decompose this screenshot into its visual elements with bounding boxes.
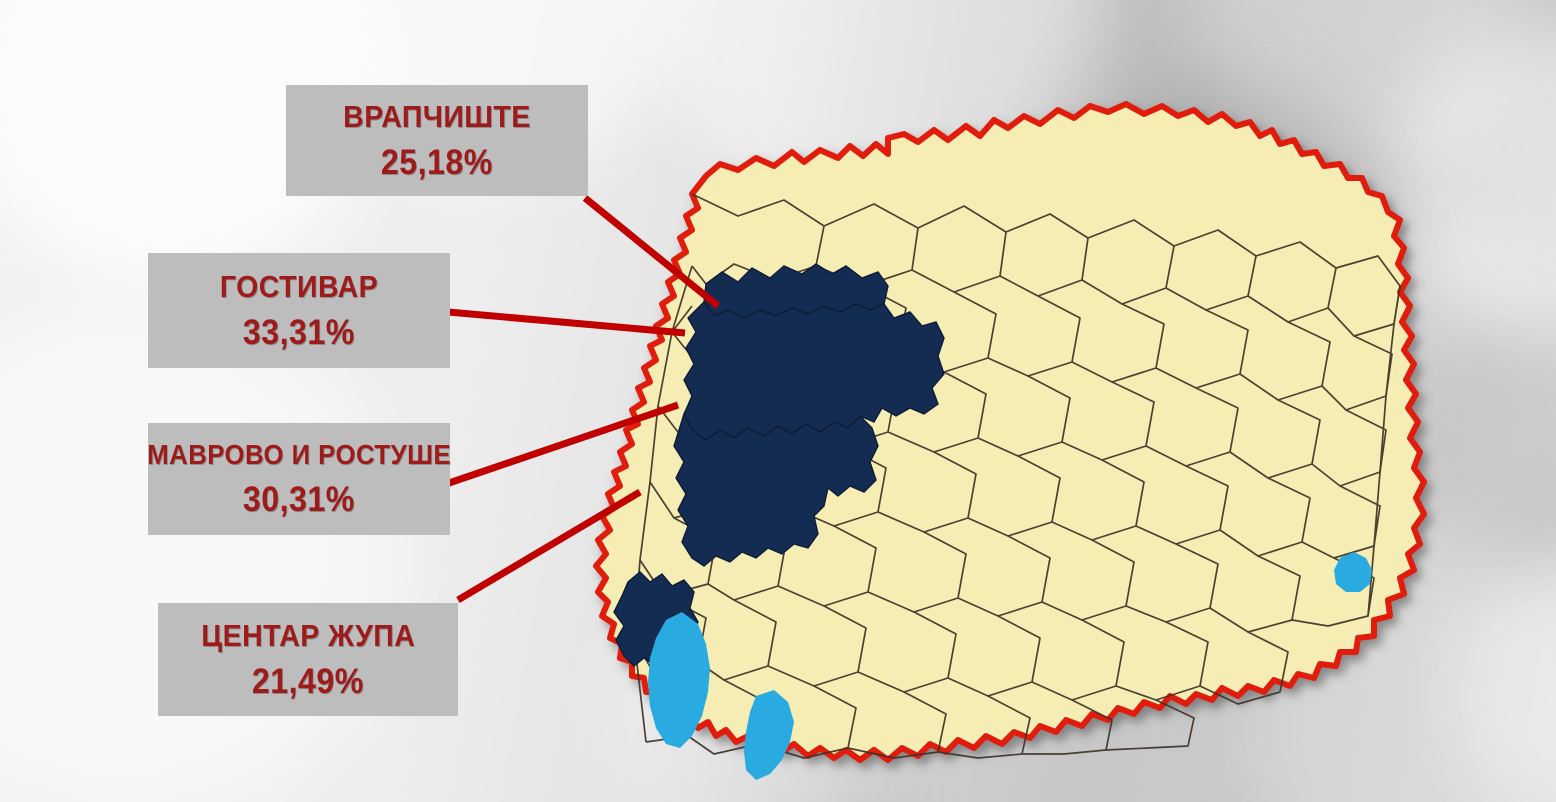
leader-line-vrapchishte [585, 198, 718, 306]
leader-line-mavrovo [449, 405, 678, 483]
callout-percent: 33,31% [243, 315, 355, 350]
infographic-canvas: ВРАПЧИШТЕ 25,18% ГОСТИВАР 33,31% МАВРОВО… [0, 0, 1556, 802]
leader-line-centar-zhupa [458, 492, 640, 600]
callout-percent: 30,31% [243, 482, 355, 517]
callout-centar-zhupa[interactable]: ЦЕНТАР ЖУПА 21,49% [158, 603, 458, 716]
callout-title: ЦЕНТАР ЖУПА [201, 620, 415, 651]
callout-title: ВРАПЧИШТЕ [343, 101, 531, 132]
callout-gostivar[interactable]: ГОСТИВАР 33,31% [148, 253, 450, 368]
leader-line-gostivar [448, 312, 685, 333]
callout-mavrovo-i-rostushe[interactable]: МАВРОВО И РОСТУШЕ 30,31% [148, 423, 450, 535]
callout-title: ГОСТИВАР [220, 271, 378, 302]
callout-title: МАВРОВО И РОСТУШЕ [147, 441, 451, 469]
callout-percent: 21,49% [252, 664, 364, 699]
callout-vrapchishte[interactable]: ВРАПЧИШТЕ 25,18% [286, 85, 588, 196]
callout-percent: 25,18% [381, 145, 493, 180]
